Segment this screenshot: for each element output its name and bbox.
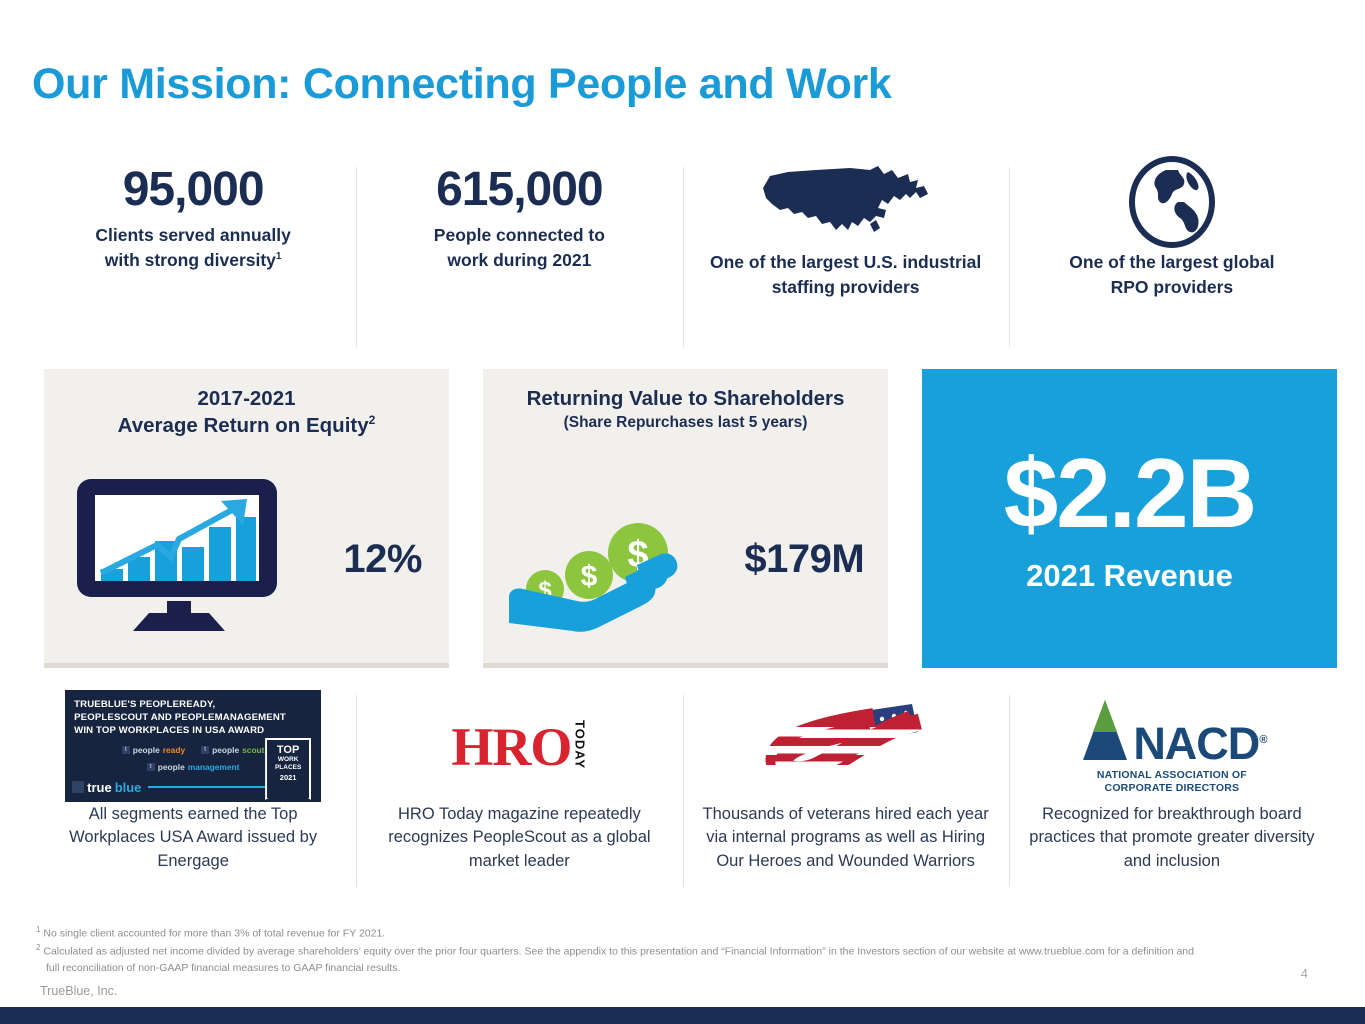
nacd-text: NACD	[1133, 718, 1259, 769]
footnote-2: 2 Calculated as adjusted net income divi…	[36, 942, 1296, 976]
stat-clients-served: 95,000 Clients served annually with stro…	[30, 163, 356, 351]
brand-accent: blue	[115, 780, 142, 795]
revenue-value: $2.2B	[1004, 444, 1256, 542]
stat-label-line2: with strong diversity	[105, 250, 276, 270]
footnote-marker: 1	[276, 251, 282, 262]
divider-rule	[148, 786, 275, 789]
award-top-workplaces: TRUEBLUE'S PEOPLEREADY, PEOPLESCOUT AND …	[30, 693, 356, 903]
top-workplaces-badge: TRUEBLUE'S PEOPLEREADY, PEOPLESCOUT AND …	[65, 693, 321, 799]
peopleready-logo: tpeopleready	[122, 745, 185, 755]
nacd-tagline: NATIONAL ASSOCIATION OF CORPORATE DIRECT…	[1097, 769, 1247, 794]
nacd-mountain-icon	[1077, 698, 1133, 766]
footnote-2-text: Calculated as adjusted net income divide…	[43, 946, 1194, 958]
footnote-2-continued: full reconciliation of non-GAAP financia…	[36, 961, 1296, 977]
card-title-line1: 2017-2021	[197, 387, 295, 410]
stat-value: 95,000	[123, 163, 264, 217]
award-veterans-hiring: Thousands of veterans hired each year vi…	[683, 693, 1009, 903]
footnote-1-text: No single client accounted for more than…	[43, 928, 385, 940]
slide: Our Mission: Connecting People and Work …	[0, 0, 1365, 1024]
award-caption: All segments earned the Top Workplaces U…	[48, 803, 338, 873]
stat-label: One of the largest U.S. industrial staff…	[710, 250, 981, 300]
stat-label-line1: One of the largest U.S. industrial	[710, 252, 981, 272]
brand-accent: ready	[163, 745, 185, 755]
stat-label-line2: work during 2021	[447, 250, 591, 270]
footnotes: 1 No single client accounted for more th…	[36, 924, 1296, 977]
stat-us-industrial-staffing: One of the largest U.S. industrial staff…	[683, 163, 1009, 351]
stat-label-line2: staffing providers	[772, 277, 920, 297]
today-wordmark: TODAY	[572, 720, 587, 769]
registered-icon: ®	[1259, 734, 1266, 746]
headline-line3: WIN TOP WORKPLACES IN USA AWARD	[74, 725, 264, 736]
nacd-mark-and-word: NACD®	[1077, 698, 1266, 766]
card-subtitle: (Share Repurchases last 5 years)	[483, 413, 888, 433]
headline-line1: TRUEBLUE'S PEOPLEREADY,	[74, 699, 215, 710]
hand-with-coins-icon: $ $ $	[507, 479, 697, 640]
nacd-wordmark: NACD®	[1133, 723, 1266, 766]
stat-label: One of the largest global RPO providers	[1069, 250, 1274, 300]
shareholders-value: $179M	[744, 537, 864, 582]
footer-brand: TrueBlue, Inc.	[40, 984, 117, 998]
svg-text:$: $	[580, 560, 597, 593]
stat-label: People connected to work during 2021	[434, 223, 605, 273]
stat-value: 615,000	[436, 163, 603, 217]
footnote-1: 1 No single client accounted for more th…	[36, 924, 1296, 942]
footnote-2-marker: 2	[36, 943, 40, 952]
nacd-tagline-line1: NATIONAL ASSOCIATION OF	[1097, 769, 1247, 781]
stat-global-rpo: One of the largest global RPO providers	[1009, 163, 1335, 351]
card-title: Returning Value to Shareholders	[483, 385, 888, 412]
card-2021-revenue: $2.2B 2021 Revenue	[922, 369, 1337, 668]
ribbon-year: 2021	[280, 773, 297, 782]
globe-icon	[1126, 163, 1218, 241]
brand-mark	[72, 781, 84, 793]
stat-label-line1: One of the largest global	[1069, 252, 1274, 272]
roe-value: 12%	[343, 537, 422, 582]
headline-line2: PEOPLESCOUT AND PEOPLEMANAGEMENT	[74, 712, 286, 723]
card-returning-value-shareholders: Returning Value to Shareholders (Share R…	[483, 369, 888, 668]
award-caption: HRO Today magazine repeatedly recognizes…	[374, 803, 664, 873]
ribbon-line1: TOP	[277, 745, 299, 756]
nacd-tagline-line2: CORPORATE DIRECTORS	[1105, 782, 1240, 794]
bottom-accent-bar	[0, 1007, 1365, 1024]
card-body: $ $ $ $179M	[483, 461, 888, 657]
brand-accent: management	[188, 762, 240, 772]
award-caption: Thousands of veterans hired each year vi…	[701, 803, 991, 873]
hro-today-logo: HRO TODAY	[451, 693, 587, 799]
ribbon-line2: WORK	[278, 756, 299, 764]
card-body: 12%	[44, 461, 449, 657]
ribbon-line3: PLACES	[275, 764, 301, 772]
american-flag-ribbon-icon	[762, 693, 930, 799]
nacd-logo-graphic: NACD® NATIONAL ASSOCIATION OF CORPORATE …	[1077, 698, 1266, 794]
card-title-line2: Average Return on Equity	[118, 414, 369, 437]
nacd-logo: NACD® NATIONAL ASSOCIATION OF CORPORATE …	[1077, 693, 1266, 799]
peoplemanagement-logo: tpeoplemanagement	[147, 762, 240, 772]
brand-mark: t	[147, 763, 155, 771]
revenue-label: 2021 Revenue	[1026, 558, 1233, 594]
hro-logo-graphic: HRO TODAY	[451, 720, 587, 771]
stat-people-connected: 615,000 People connected to work during …	[356, 163, 682, 351]
footnote-marker: 2	[369, 413, 376, 427]
brand-mark: t	[201, 746, 209, 754]
footnote-1-marker: 1	[36, 925, 40, 934]
stat-label-line1: People connected to	[434, 225, 605, 245]
award-badge-headline: TRUEBLUE'S PEOPLEREADY, PEOPLESCOUT AND …	[65, 690, 321, 738]
monitor-growth-chart-icon	[71, 475, 289, 644]
hro-wordmark: HRO	[451, 723, 571, 772]
page-title: Our Mission: Connecting People and Work	[32, 60, 892, 109]
peoplescout-logo: tpeoplescout	[201, 745, 264, 755]
usa-map-icon	[758, 163, 934, 241]
award-hro-today: HRO TODAY HRO Today magazine repeatedly …	[356, 693, 682, 903]
middle-cards-row: 2017-2021 Average Return on Equity2	[44, 369, 1337, 668]
brand-accent: scout	[242, 745, 264, 755]
stat-label: Clients served annually with strong dive…	[95, 223, 291, 273]
bottom-awards-row: TRUEBLUE'S PEOPLEREADY, PEOPLESCOUT AND …	[30, 693, 1335, 903]
page-number: 4	[1301, 966, 1308, 981]
award-caption: Recognized for breakthrough board practi…	[1027, 803, 1317, 873]
award-nacd: NACD® NATIONAL ASSOCIATION OF CORPORATE …	[1009, 693, 1335, 903]
stat-label-line2: RPO providers	[1111, 277, 1234, 297]
stat-label-line1: Clients served annually	[95, 225, 291, 245]
brand-mark: t	[122, 746, 130, 754]
top-stats-row: 95,000 Clients served annually with stro…	[30, 163, 1335, 351]
card-title: 2017-2021 Average Return on Equity2	[44, 385, 449, 439]
award-badge-graphic: TRUEBLUE'S PEOPLEREADY, PEOPLESCOUT AND …	[65, 690, 321, 802]
card-return-on-equity: 2017-2021 Average Return on Equity2	[44, 369, 449, 668]
trueblue-logo: trueblue	[72, 780, 141, 795]
